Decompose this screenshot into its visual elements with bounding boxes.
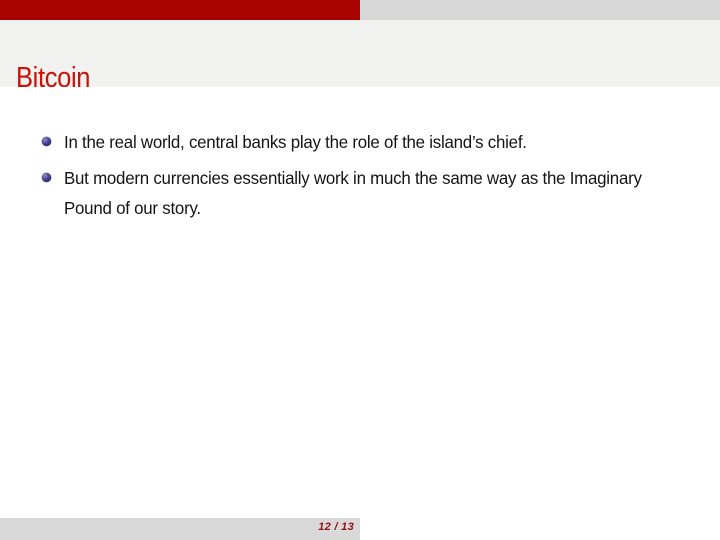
presentation-slide: Bitcoin In the real world, central banks…: [0, 0, 720, 540]
bullet-list: In the real world, central banks play th…: [40, 127, 700, 229]
sphere-bullet-icon: [42, 173, 51, 182]
sphere-bullet-icon: [42, 137, 51, 146]
slide-content-area: In the real world, central banks play th…: [0, 87, 720, 512]
list-item-label: In the real world, central banks play th…: [64, 127, 678, 157]
list-item: In the real world, central banks play th…: [40, 127, 700, 157]
list-item-label: But modern currencies essentially work i…: [64, 163, 678, 223]
top-decoration-strip: [0, 0, 720, 20]
page-number: 12 / 13: [318, 521, 354, 533]
slide-footer-band: 12 / 13: [0, 518, 360, 540]
slide-header-band: Bitcoin: [0, 20, 720, 87]
footer-divider: [0, 512, 720, 513]
list-item: But modern currencies essentially work i…: [40, 163, 700, 223]
top-accent-bar: [0, 0, 360, 20]
